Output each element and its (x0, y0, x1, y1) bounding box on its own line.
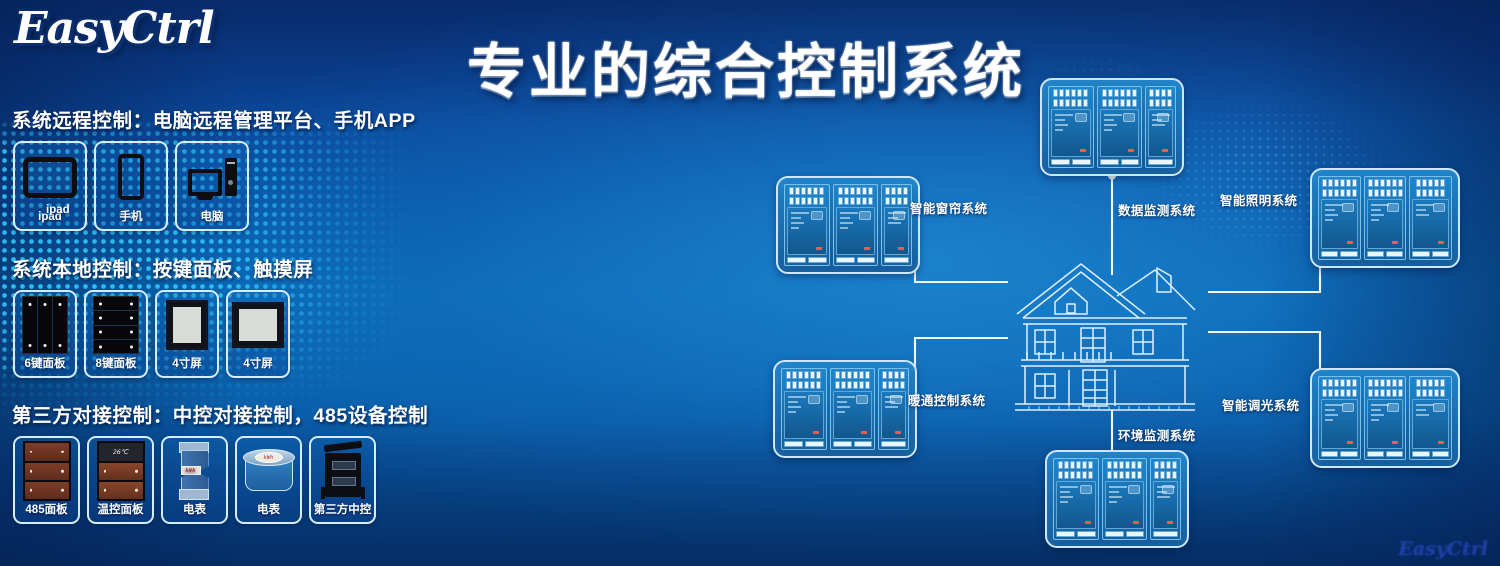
node-label-curtain: 智能窗帘系统 (910, 198, 987, 217)
controller-unit (781, 368, 827, 450)
node-label-hvac: 暖通控制系统 (908, 390, 985, 409)
node-label-environment: 环境监测系统 (1118, 425, 1195, 444)
eight-key-panel-icon (86, 292, 146, 358)
electric-meter-icon: kWh (163, 438, 226, 504)
device-label: 第三方中控 (314, 504, 372, 519)
poster-canvas: EasyCtrl 专业的综合控制系统 系统远程控制：电脑远程管理平台、手机APP… (0, 0, 1500, 566)
device-row-third-party: 485面板 26℃ 温控面板 kWh 电表 (13, 436, 430, 524)
node-label-dimming: 智能调光系统 (1222, 395, 1299, 414)
module-curtain[interactable] (776, 176, 920, 274)
device-label: 6键面板 (25, 358, 66, 373)
module-lighting[interactable] (1310, 168, 1460, 268)
device-row-local: 6键面板 8键面板 4寸屏 4寸屏 (13, 290, 430, 378)
ipad-sublabel: ipad (46, 204, 70, 216)
system-topology-diagram: 智能窗帘系统 数据监测系统 智能照明系统 暖通控制系统 环境监测系统 智能调光系… (740, 70, 1500, 566)
module-environment[interactable] (1045, 450, 1189, 548)
module-hvac[interactable] (773, 360, 917, 458)
device-label: 电表 (257, 504, 280, 519)
thermostat-panel-icon: 26℃ (89, 438, 152, 504)
device-label: 485面板 (25, 504, 67, 519)
device-card-8key-panel[interactable]: 8键面板 (84, 290, 148, 378)
device-label: 手机 (120, 211, 143, 226)
brand-watermark: EasyCtrl (1398, 538, 1488, 560)
device-label: 8键面板 (96, 358, 137, 373)
controller-unit (833, 184, 879, 266)
house-illustration (1005, 248, 1205, 413)
device-card-thermostat-panel[interactable]: 26℃ 温控面板 (87, 436, 154, 524)
device-label: 4寸屏 (243, 358, 272, 373)
controller-unit (1145, 86, 1176, 168)
controller-unit (784, 184, 830, 266)
thermostat-display: 26℃ (99, 443, 143, 460)
controller-unit (1364, 376, 1407, 460)
module-data-monitoring[interactable] (1040, 78, 1184, 176)
controller-unit (1150, 458, 1181, 540)
section-heading-third-party: 第三方对接控制：中控对接控制，485设备控制 (12, 399, 430, 428)
device-catalog-panel: 系统远程控制：电脑远程管理平台、手机APP ipad 手机 电脑 (0, 104, 430, 524)
device-label: 电表 (183, 504, 206, 519)
brand-logo: EasyCtrl (14, 3, 214, 54)
device-label: 温控面板 (98, 504, 144, 519)
device-card-6key-panel[interactable]: 6键面板 (13, 290, 77, 378)
controller-unit (1053, 458, 1099, 540)
section-heading-remote-control: 系统远程控制：电脑远程管理平台、手机APP (12, 104, 430, 133)
controller-unit (1409, 376, 1452, 460)
device-card-ipad[interactable]: ipad (13, 141, 87, 231)
section-heading-local-control: 系统本地控制：按键面板、触摸屏 (12, 253, 430, 282)
controller-unit (878, 368, 909, 450)
device-card-computer[interactable]: 电脑 (175, 141, 249, 231)
controller-unit (1318, 176, 1361, 260)
module-dimming[interactable] (1310, 368, 1460, 468)
device-card-phone[interactable]: 手机 (94, 141, 168, 231)
node-label-data-monitoring: 数据监测系统 (1118, 200, 1195, 219)
tablet-icon (15, 143, 85, 211)
controller-unit (1048, 86, 1094, 168)
device-row-remote: ipad 手机 电脑 (13, 141, 430, 231)
device-label: 电脑 (201, 211, 224, 226)
controller-unit (1364, 176, 1407, 260)
device-card-4inch-screen[interactable]: 4寸屏 (155, 290, 219, 378)
third-party-controller-icon (311, 438, 374, 504)
device-card-meter-din[interactable]: kWh 电表 (161, 436, 228, 524)
device-card-meter-round[interactable]: kWh 电表 (235, 436, 302, 524)
node-label-lighting: 智能照明系统 (1220, 190, 1297, 209)
device-card-4inch-screen-wide[interactable]: 4寸屏 (226, 290, 290, 378)
controller-unit (1409, 176, 1452, 260)
touch-screen-wide-icon (228, 292, 288, 358)
smartphone-icon (96, 143, 166, 211)
round-electric-meter-icon: kWh (237, 438, 300, 504)
touch-screen-icon (157, 292, 217, 358)
device-card-third-party-controller[interactable]: 第三方中控 (309, 436, 376, 524)
controller-unit (881, 184, 912, 266)
meter-face-label: kWh (255, 452, 283, 463)
controller-unit (1102, 458, 1148, 540)
device-card-485-panel[interactable]: 485面板 (13, 436, 80, 524)
controller-unit (1097, 86, 1143, 168)
desktop-computer-icon (177, 143, 247, 211)
controller-unit (830, 368, 876, 450)
device-label: 4寸屏 (172, 358, 201, 373)
controller-unit (1318, 376, 1361, 460)
rs485-panel-icon (15, 438, 78, 504)
six-key-panel-icon (15, 292, 75, 358)
